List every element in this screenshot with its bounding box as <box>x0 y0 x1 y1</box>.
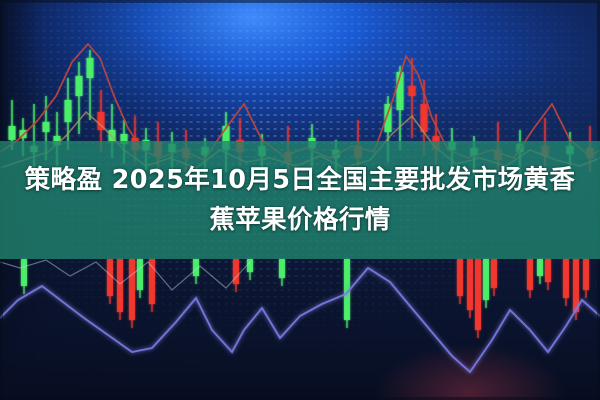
candle-body <box>247 259 253 272</box>
candle-body <box>279 259 285 278</box>
candle-body <box>76 76 83 96</box>
headline-line-2: 蕉苹果价格行情 <box>209 200 390 240</box>
candle-body <box>527 259 533 290</box>
headline-title: 策略盈 2025年10月5日全国主要批发市场黄香 蕉苹果价格行情 <box>0 141 600 259</box>
candle-body <box>409 86 416 96</box>
candle-body <box>545 259 551 282</box>
candle-body <box>467 259 473 310</box>
candle-body <box>43 122 50 132</box>
headline-line-1: 策略盈 2025年10月5日全国主要批发市场黄香 <box>25 160 576 200</box>
candle-body <box>491 259 497 288</box>
candle-body <box>21 259 27 286</box>
candle-body <box>483 259 489 300</box>
candle-body <box>537 259 543 276</box>
candle-body <box>129 259 135 320</box>
candle-body <box>87 58 94 78</box>
candle-body <box>9 126 16 140</box>
candle-body <box>65 100 72 122</box>
candle-body <box>137 259 143 290</box>
candle-body <box>457 259 463 296</box>
candle-body <box>563 259 569 298</box>
candle-body <box>117 259 123 312</box>
candle-body <box>573 259 579 312</box>
candle-body <box>475 259 481 330</box>
banner-image: 策略盈 2025年10月5日全国主要批发市场黄香 蕉苹果价格行情 <box>0 0 600 400</box>
candle-body <box>583 259 589 290</box>
